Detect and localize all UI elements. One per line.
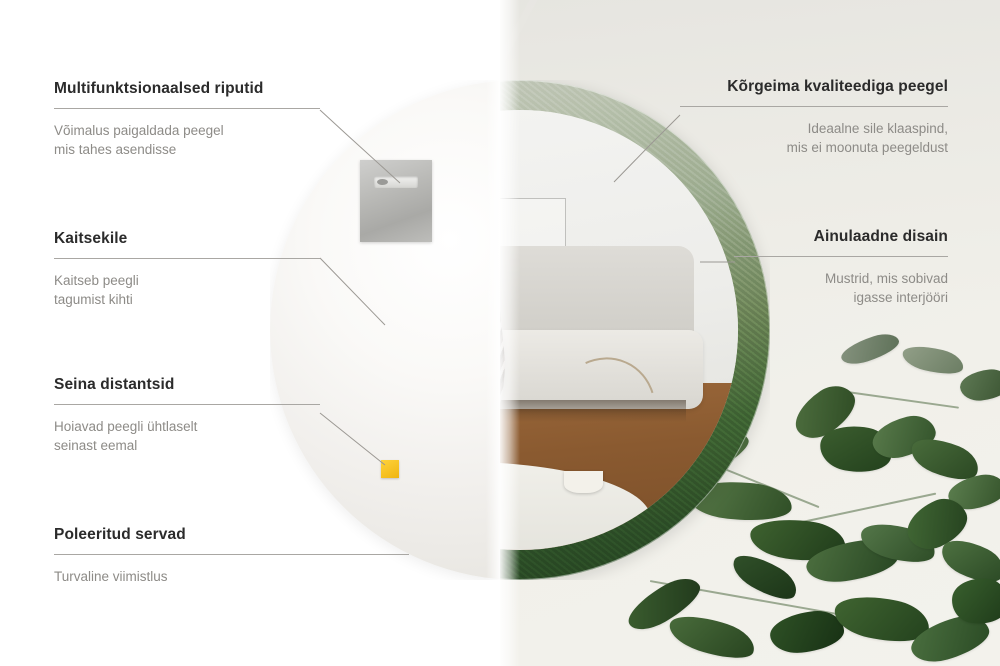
callout-description: Ideaalne sile klaaspind, mis ei moonuta … <box>680 119 948 157</box>
callout-polished-edges: Poleeritud servad Turvaline viimistlus <box>54 526 409 586</box>
callout-multifunctional-hangers: Multifunktsionaalsed riputid Võimalus pa… <box>54 80 320 159</box>
callout-title: Ainulaadne disain <box>734 228 948 247</box>
callout-title: Kaitsekile <box>54 230 320 249</box>
callout-description: Kaitseb peegli tagumist kihti <box>54 271 320 309</box>
callout-rule <box>54 554 409 555</box>
callout-title: Poleeritud servad <box>54 526 409 545</box>
callout-description: Mustrid, mis sobivad igasse interjööri <box>734 269 948 307</box>
callout-description: Turvaline viimistlus <box>54 567 409 586</box>
callout-description: Võimalus paigaldada peegel mis tahes ase… <box>54 121 320 159</box>
callout-protective-film: Kaitsekile Kaitseb peegli tagumist kihti <box>54 230 320 309</box>
callout-wall-spacers: Seina distantsid Hoiavad peegli ühtlasel… <box>54 376 320 455</box>
callout-title: Seina distantsid <box>54 376 320 395</box>
callout-rule <box>680 106 948 107</box>
callout-title: Kõrgeima kvaliteediga peegel <box>680 78 948 97</box>
callout-unique-design: Ainulaadne disain Mustrid, mis sobivad i… <box>734 228 948 307</box>
hanger-keyhole-slot <box>374 176 418 188</box>
infographic-stage: Multifunktsionaalsed riputid Võimalus pa… <box>0 0 1000 666</box>
callout-rule <box>54 258 320 259</box>
wall-spacer-block <box>381 460 399 478</box>
callout-description: Hoiavad peegli ühtlaselt seinast eemal <box>54 417 320 455</box>
callout-rule <box>54 108 320 109</box>
callout-rule <box>54 404 320 405</box>
wall-hanger-plate <box>360 160 432 242</box>
callout-title: Multifunktsionaalsed riputid <box>54 80 320 99</box>
callout-highest-quality-mirror: Kõrgeima kvaliteediga peegel Ideaalne si… <box>680 78 948 157</box>
callout-rule <box>734 256 948 257</box>
